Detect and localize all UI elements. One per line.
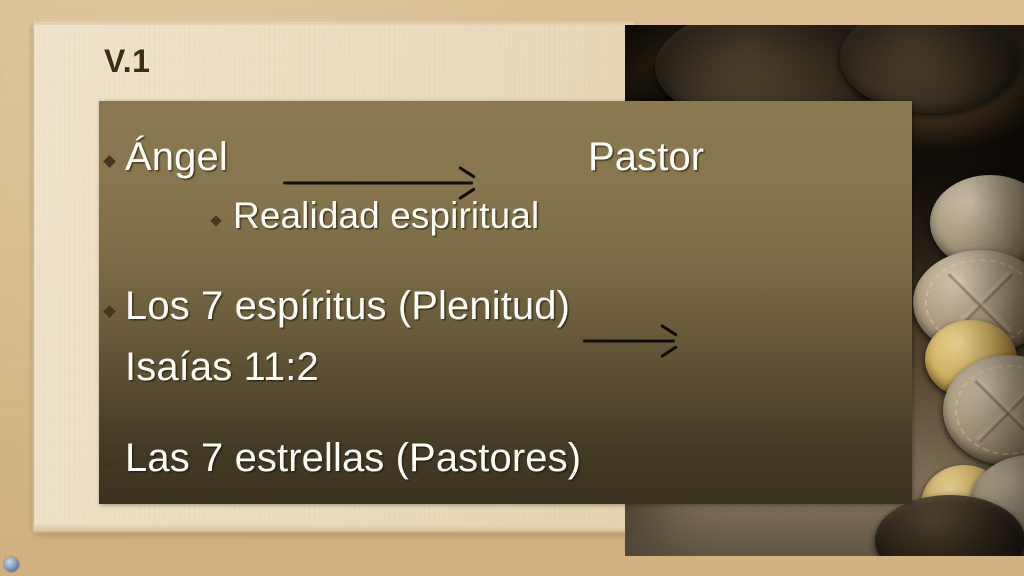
slideshow-menu-button[interactable]	[4, 557, 19, 572]
page-title: V.1	[104, 43, 150, 80]
text-line-siete-estrellas: Las 7 estrellas (Pastores)	[125, 438, 581, 478]
arrow-espiritus	[583, 331, 675, 351]
text-line-realidad-espiritual: Realidad espiritual	[233, 197, 539, 234]
text-line-isaias-reference: Isaías 11:2	[125, 347, 319, 387]
bullet-marker-realidad	[210, 215, 221, 226]
bullet-marker-espiritus	[103, 305, 116, 318]
presentation-slide: V.1 Ángel Pastor Realidad espiritual Los…	[0, 0, 1024, 576]
arrow-head-icon	[657, 331, 677, 351]
bullet-marker-angel	[103, 155, 116, 168]
content-panel: Ángel Pastor Realidad espiritual Los 7 e…	[99, 101, 912, 504]
arrow-shaft	[283, 182, 473, 185]
arrow-angel-to-pastor	[283, 173, 473, 193]
text-line-angel: Ángel	[125, 137, 228, 177]
parchment-bottom-edge	[34, 525, 634, 534]
arrow-head-icon	[455, 173, 475, 193]
bullet-marker-estrellas	[103, 457, 116, 470]
text-line-siete-espiritus: Los 7 espíritus (Plenitud)	[125, 286, 570, 326]
text-line-pastor: Pastor	[588, 137, 704, 177]
